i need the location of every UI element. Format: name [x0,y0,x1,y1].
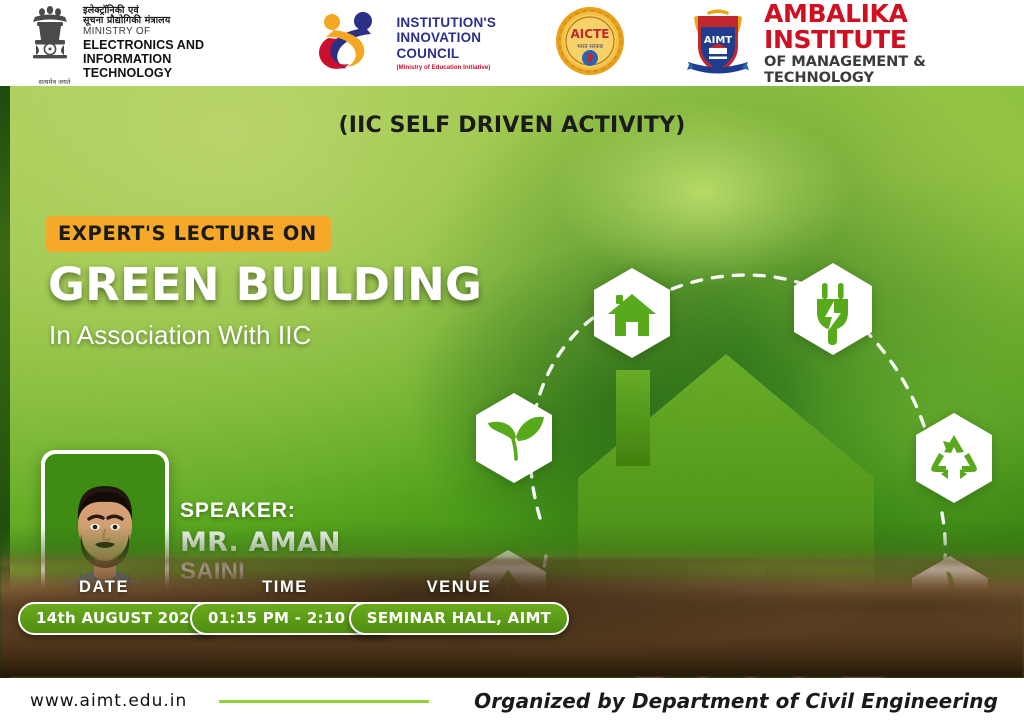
detail-date-value: 14th AUGUST 2025 [18,602,219,635]
aicte-gear-seal-icon: AICTE भारत सरकार [554,5,626,82]
meity-bold-line-1: ELECTRONICS AND [83,38,242,52]
iic-subtitle: (Ministry of Education Initiative) [396,64,496,71]
logo-meity: सत्यमेव जयते इलेक्ट्रॉनिकी एवं सूचना प्र… [26,1,242,86]
poster-footer: www.aimt.edu.in Organized by Department … [0,678,1024,724]
meity-ministry-line: MINISTRY OF [83,27,242,38]
aimt-line-2: OF MANAGEMENT & TECHNOLOGY [764,54,1024,84]
page-title: GREEN BUILDING [48,258,482,311]
meity-hindi-line-2: सूचना प्रौद्योगिकी मंत्रालय [83,16,242,26]
lecture-badge: EXPERT'S LECTURE ON [46,216,331,252]
detail-date: DATE 14th AUGUST 2025 [18,578,190,635]
aimt-shield-crest-icon: AIMT [682,4,764,83]
logo-aicte: AICTE भारत सरकार [554,5,626,82]
detail-venue-heading: VENUE [344,578,574,597]
organized-by-text: Organized by Department of Civil Enginee… [474,689,998,713]
meity-bold-line-2: INFORMATION TECHNOLOGY [83,52,242,80]
footer-divider-rule [219,700,429,703]
iic-people-swirl-icon [314,10,396,77]
emblem-motto: सत्यमेव जयते [26,77,83,86]
logo-iic: INSTITUTION'S INNOVATION COUNCIL (Minist… [314,10,496,77]
leaf-plant-icon [472,391,556,485]
logo-aimt: AIMT AMBALIKA INSTITUTE OF MANAGEMENT & … [682,1,1024,84]
event-details: DATE 14th AUGUST 2025 TIME 01:15 PM - 2:… [0,578,1024,652]
event-poster: सत्यमेव जयते इलेक्ट्रॉनिकी एवं सूचना प्र… [0,0,1024,724]
detail-date-heading: DATE [18,578,190,597]
aimt-line-1: AMBALIKA INSTITUTE [764,1,1024,53]
recycle-icon [912,411,996,505]
india-state-emblem-icon: सत्यमेव जयते [26,1,83,86]
activity-tag: (IIC SELF DRIVEN ACTIVITY) [0,113,1024,138]
page-subtitle: In Association With IIC [49,320,311,351]
website-link[interactable]: www.aimt.edu.in [30,691,187,711]
detail-venue-value: SEMINAR HALL, AIMT [349,602,569,635]
house-icon [590,266,674,360]
iic-line-2: INNOVATION [396,30,496,45]
iic-line-1: INSTITUTION'S [396,15,496,30]
partner-logo-bar: सत्यमेव जयते इलेक्ट्रॉनिकी एवं सूचना प्र… [0,0,1024,86]
detail-venue: VENUE SEMINAR HALL, AIMT [344,578,574,635]
poster-body: (IIC SELF DRIVEN ACTIVITY) EXPERT'S LECT… [0,86,1024,678]
aicte-wordmark: AICTE [571,27,610,41]
power-plug-icon [790,261,876,357]
svg-text:भारत सरकार: भारत सरकार [577,44,604,50]
iic-line-3: COUNCIL [396,46,496,61]
speaker-label: SPEAKER: [180,499,296,523]
